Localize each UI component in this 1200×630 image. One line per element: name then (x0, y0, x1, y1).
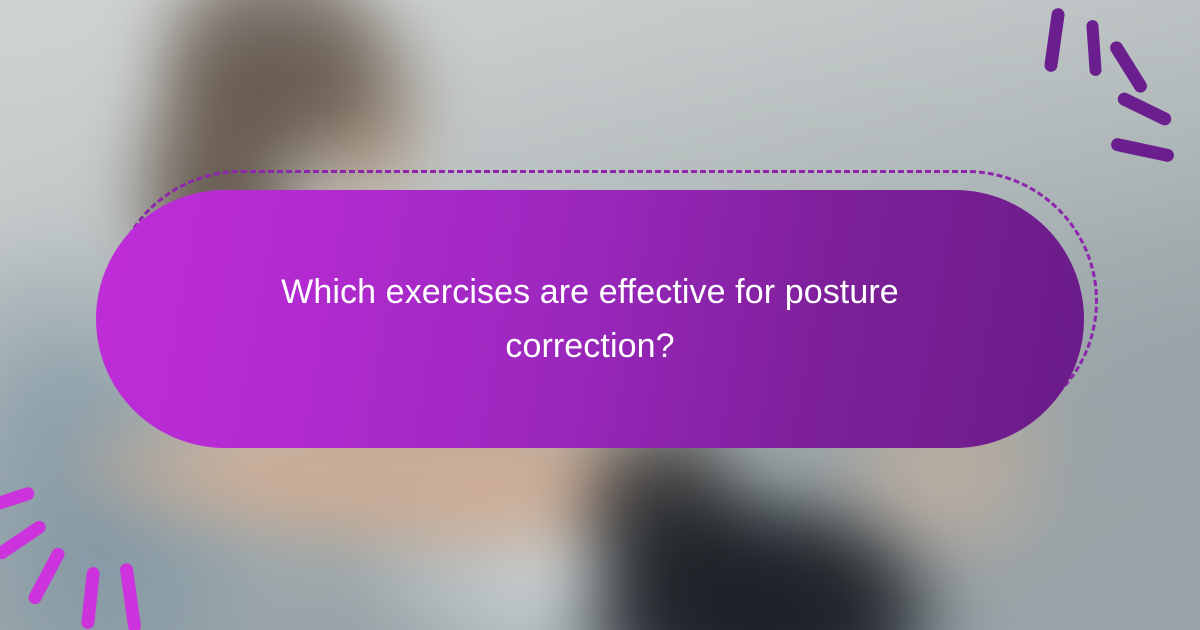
social-card-canvas: Which exercises are effective for postur… (0, 0, 1200, 630)
card-body: Which exercises are effective for postur… (96, 190, 1084, 448)
sparkle-burst-top-right-icon (1010, 0, 1200, 165)
sparkle-ray (1044, 7, 1066, 72)
sparkle-ray (119, 562, 142, 630)
sparkle-ray (1108, 39, 1150, 95)
question-text: Which exercises are effective for postur… (230, 265, 950, 373)
question-card: Which exercises are effective for postur… (96, 176, 1100, 452)
sparkle-ray (81, 566, 100, 629)
sparkle-ray (1086, 20, 1102, 77)
sparkle-ray (1116, 90, 1174, 127)
sparkle-ray (26, 546, 67, 607)
sparkle-ray (0, 518, 48, 561)
sparkle-ray (0, 486, 36, 519)
sparkle-burst-bottom-left-icon (0, 455, 185, 630)
sparkle-ray (1110, 137, 1175, 163)
